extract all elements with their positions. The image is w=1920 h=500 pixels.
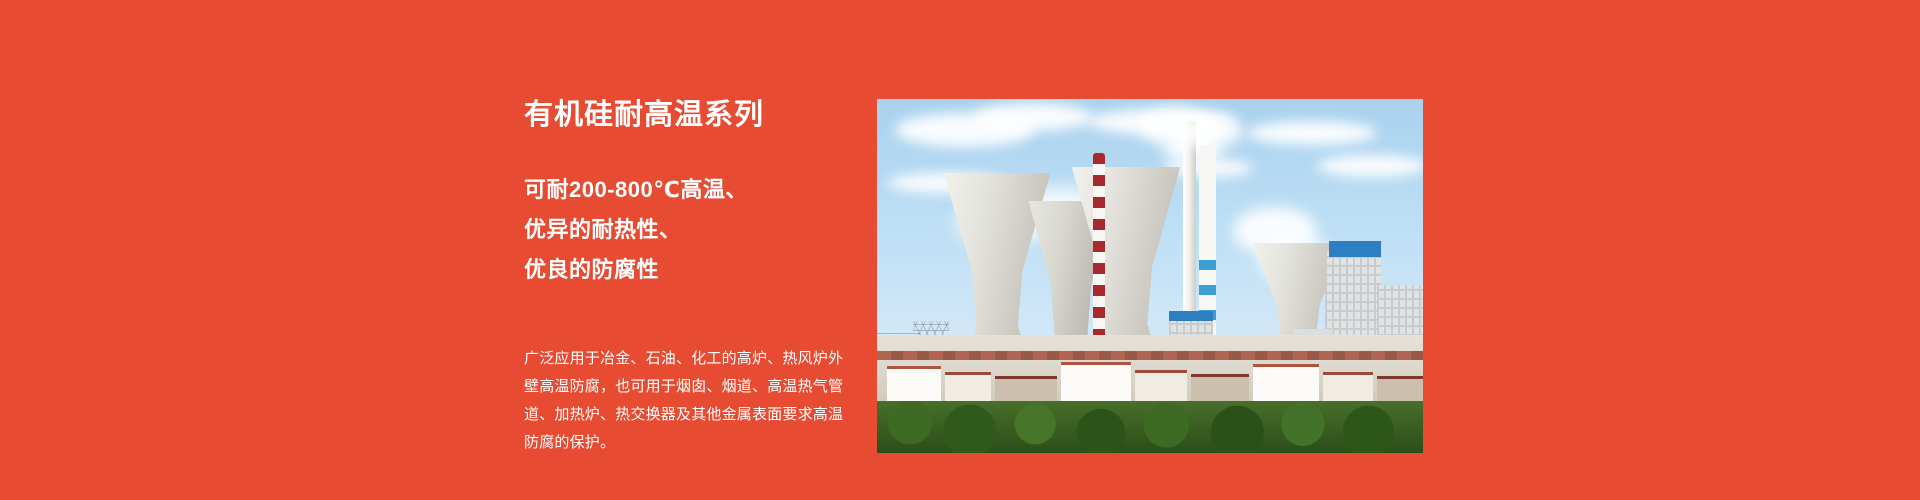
smoke-plume xyxy=(1173,117,1243,147)
product-photo xyxy=(877,99,1423,453)
banner-text-column: 有机硅耐高温系列 可耐200-800℃高温、 优异的耐热性、 优良的防腐性 广泛… xyxy=(524,0,884,500)
red-white-striped-smokestack xyxy=(1093,153,1105,357)
feature-item-corrosion-resistance: 优良的防腐性 xyxy=(524,250,748,290)
page-title: 有机硅耐高温系列 xyxy=(524,101,764,130)
plant-roof xyxy=(1169,311,1213,321)
photo-canvas xyxy=(877,99,1423,453)
promo-banner: 有机硅耐高温系列 可耐200-800℃高温、 优异的耐热性、 优良的防腐性 广泛… xyxy=(0,0,1920,500)
feature-item-heat-resistance: 优异的耐热性、 xyxy=(524,210,748,250)
power-line xyxy=(877,333,921,334)
cloud-icon xyxy=(973,103,1093,131)
feature-item-temperature: 可耐200-800℃高温、 xyxy=(524,170,748,210)
foreground-trees xyxy=(877,401,1423,453)
product-description: 广泛应用于冶金、石油、化工的高炉、热风炉外壁高温防腐，也可用于烟囱、烟道、高温热… xyxy=(524,345,854,457)
plant-roof xyxy=(1329,241,1381,257)
town-skyline xyxy=(877,335,1423,409)
cloud-icon xyxy=(1317,155,1423,177)
feature-list: 可耐200-800℃高温、 优异的耐热性、 优良的防腐性 xyxy=(524,170,748,290)
cloud-icon xyxy=(1247,121,1377,145)
rooftop-row xyxy=(877,351,1423,360)
